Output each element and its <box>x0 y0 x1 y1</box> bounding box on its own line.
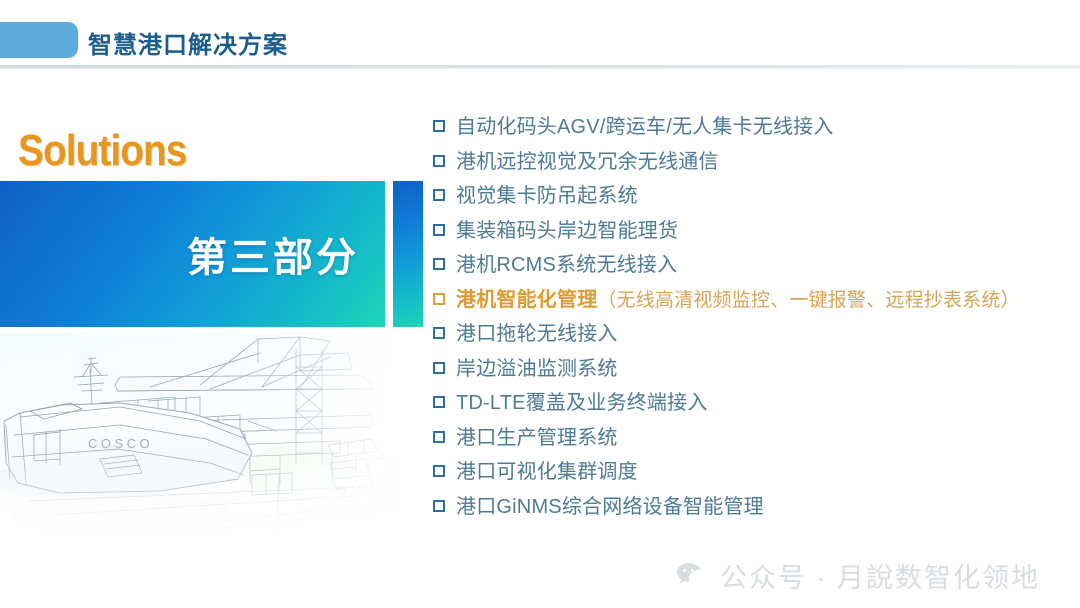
bullet-square-icon <box>433 293 445 305</box>
section-word-solutions: Solutions <box>18 126 186 176</box>
list-item-label: 港机智能化管理（无线高清视频监控、一键报警、远程抄表系统） <box>456 285 1020 316</box>
list-item-label: 视觉集卡防吊起系统 <box>456 181 638 211</box>
section-banner: 第三部分 <box>0 181 385 327</box>
slide-header: 智慧港口解决方案 <box>0 0 1080 68</box>
list-item: 集装箱码头岸边智能理货 <box>433 216 1078 251</box>
watermark: 公众号 · 月說数智化领地 <box>676 556 1040 595</box>
solutions-list: 自动化码头AGV/跨运车/无人集卡无线接入港机远控视觉及冗余无线通信视觉集卡防吊… <box>433 112 1078 526</box>
list-item: TD-LTE覆盖及业务终端接入 <box>433 388 1078 423</box>
list-item: 港口拖轮无线接入 <box>433 319 1078 354</box>
bullet-square-icon <box>433 362 445 374</box>
bullet-square-icon <box>433 500 445 512</box>
watermark-label: 公众号 · 月說数智化领地 <box>720 556 1040 595</box>
list-item: 港口GiNMS综合网络设备智能管理 <box>433 492 1078 527</box>
list-item-label: 集装箱码头岸边智能理货 <box>456 216 678 246</box>
bullet-square-icon <box>433 155 445 167</box>
list-item-label: 港机RCMS系统无线接入 <box>456 250 677 280</box>
bullet-square-icon <box>433 258 445 270</box>
bullet-square-icon <box>433 396 445 408</box>
page-title: 智慧港口解决方案 <box>88 25 288 60</box>
wechat-icon <box>676 561 710 591</box>
list-item: 岸边溢油监测系统 <box>433 354 1078 389</box>
list-item-label: 港口生产管理系统 <box>456 423 618 453</box>
header-divider-secondary <box>0 68 1080 69</box>
list-item-label: 港机远控视觉及冗余无线通信 <box>456 147 719 177</box>
bullet-square-icon <box>433 327 445 339</box>
bullet-square-icon <box>433 224 445 236</box>
list-item-label: 港口可视化集群调度 <box>456 457 638 487</box>
list-item: 视觉集卡防吊起系统 <box>433 181 1078 216</box>
list-item-label: 岸边溢油监测系统 <box>456 354 618 384</box>
list-item: 港机远控视觉及冗余无线通信 <box>433 147 1078 182</box>
list-item: 港口可视化集群调度 <box>433 457 1078 492</box>
list-item-label: 港口拖轮无线接入 <box>456 319 618 349</box>
bullet-square-icon <box>433 189 445 201</box>
list-item: 港机智能化管理（无线高清视频监控、一键报警、远程抄表系统） <box>433 285 1078 320</box>
list-item: 自动化码头AGV/跨运车/无人集卡无线接入 <box>433 112 1078 147</box>
list-item-label-strong: 港机智能化管理 <box>456 289 597 311</box>
header-tab-marker <box>0 22 78 58</box>
section-banner-label: 第三部分 <box>187 225 359 283</box>
bullet-square-icon <box>433 465 445 477</box>
bullet-square-icon <box>433 431 445 443</box>
port-ship-sketch: COSCO <box>0 333 400 533</box>
bullet-square-icon <box>433 120 445 132</box>
list-item-label-note: （无线高清视频监控、一键报警、远程抄表系统） <box>597 290 1019 311</box>
list-item-label: 港口GiNMS综合网络设备智能管理 <box>456 492 764 522</box>
list-item: 港机RCMS系统无线接入 <box>433 250 1078 285</box>
section-banner-accent-strip <box>393 181 423 327</box>
list-item-label: 自动化码头AGV/跨运车/无人集卡无线接入 <box>456 112 834 142</box>
list-item: 港口生产管理系统 <box>433 423 1078 458</box>
list-item-label: TD-LTE覆盖及业务终端接入 <box>456 388 708 418</box>
